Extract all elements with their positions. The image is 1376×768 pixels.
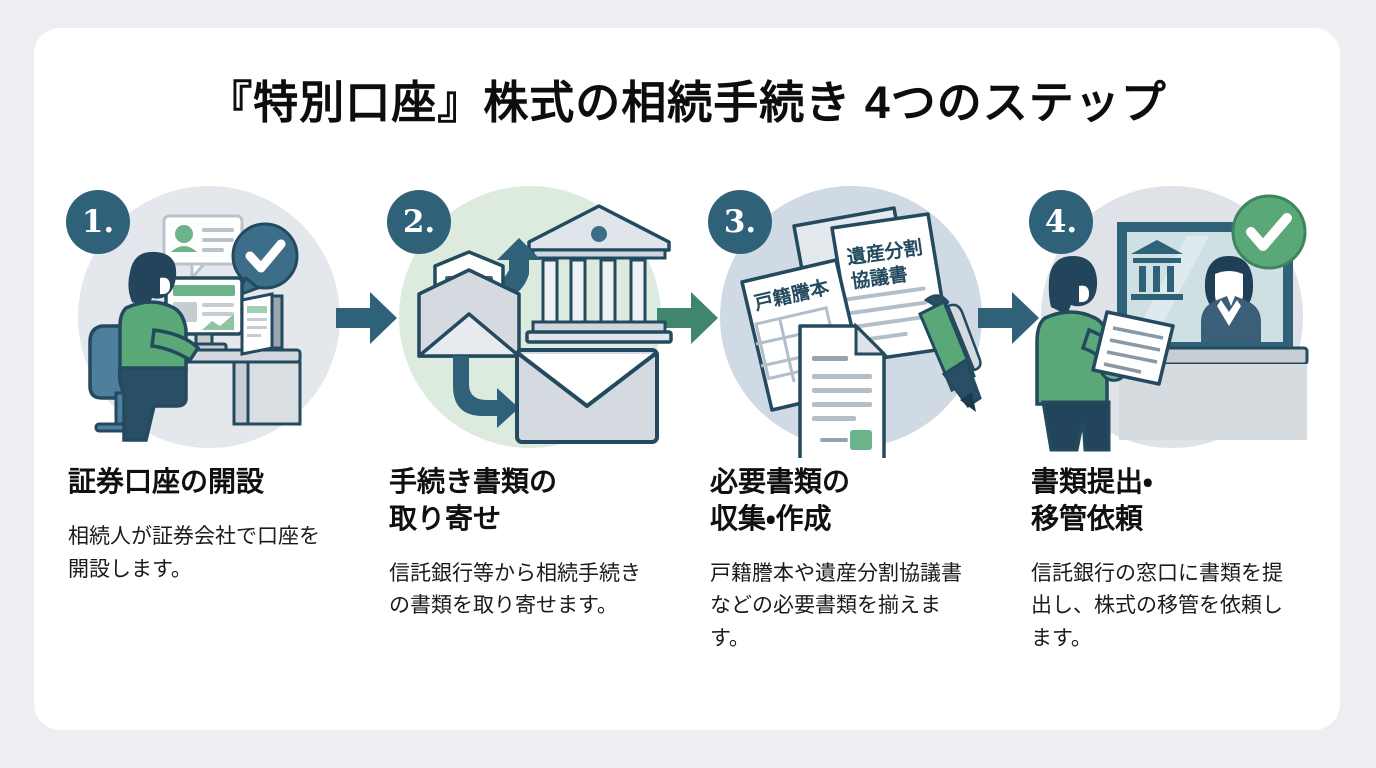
document-stand-icon: [242, 294, 282, 354]
step-1-body: 相続人が証券会社で口座を開設します。: [56, 521, 324, 586]
step-2: 2.: [377, 178, 675, 623]
step-2-body: 信託銀行等から相続手続きの書類を取り寄せます。: [377, 558, 645, 623]
step-3-body: 戸籍謄本や遺産分割協議書などの必要書類を揃えます。: [698, 558, 966, 656]
front-document-icon: [800, 326, 884, 458]
step-4-illustration: 4.: [1019, 178, 1317, 458]
step-2-number-badge: 2.: [387, 190, 451, 254]
step-1-number-badge: 1.: [66, 190, 130, 254]
steps-row: 1.: [56, 178, 1318, 708]
step-4-heading-line-2: 移管依頼: [1031, 503, 1143, 534]
step-3-heading-line-2: 収集・作成: [710, 503, 832, 534]
bank-building-icon: [527, 206, 671, 342]
step-2-heading-line-2: 取り寄せ: [389, 503, 501, 534]
step-3-heading-line-1: 必要書類の: [710, 466, 850, 497]
submitted-document-icon: [1093, 312, 1173, 384]
infographic-card: 『特別口座』株式の相続手続き 4つのステップ 1.: [34, 28, 1340, 730]
step-3-number-badge: 3.: [708, 190, 772, 254]
step-2-illustration: 2.: [377, 178, 675, 458]
page-title: 『特別口座』株式の相続手続き 4つのステップ: [34, 66, 1340, 131]
step-1: 1.: [56, 178, 354, 586]
curved-arrow-down-icon: [453, 356, 519, 428]
green-check-badge-icon: [1233, 196, 1305, 268]
step-4-heading-line-1: 書類提出・: [1031, 466, 1153, 497]
step-3: 3. 遺産分割 協議書: [698, 178, 996, 656]
open-envelope-letter-icon: [419, 252, 519, 356]
arrow-2-to-3: [675, 178, 698, 458]
step-3-heading: 必要書類の 収集・作成: [698, 464, 850, 538]
step-4-number-badge: 4.: [1029, 190, 1093, 254]
step-2-heading-line-1: 手続き書類の: [389, 466, 557, 497]
step-4-heading: 書類提出・ 移管依頼: [1019, 464, 1153, 538]
step-4: 4.: [1019, 178, 1317, 656]
step-2-heading: 手続き書類の 取り寄せ: [377, 464, 557, 538]
step-1-illustration: 1.: [56, 178, 354, 458]
pen-icon: [920, 295, 980, 412]
arrow-3-to-4: [996, 178, 1019, 458]
step-3-illustration: 3. 遺産分割 協議書: [698, 178, 996, 458]
step-1-heading: 証券口座の開設: [56, 464, 264, 501]
step-4-body: 信託銀行の窓口に書類を提出し、株式の移管を依頼します。: [1019, 558, 1287, 656]
arrow-1-to-2: [354, 178, 377, 458]
closed-envelope-icon: [517, 350, 657, 442]
